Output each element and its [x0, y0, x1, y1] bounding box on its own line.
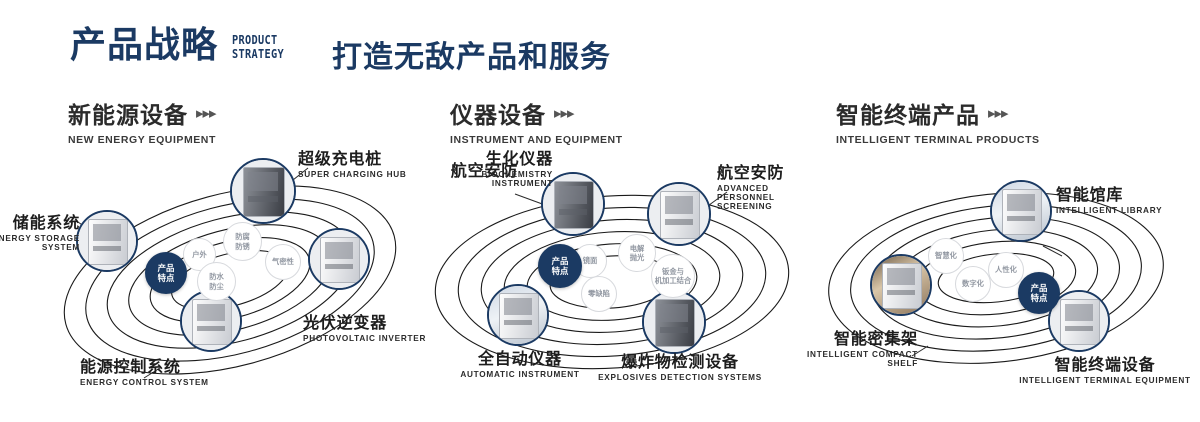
- node-super-charging-hub[interactable]: [230, 158, 296, 224]
- automatic-instrument-image: [489, 286, 547, 344]
- node-energy-storage-system[interactable]: [76, 210, 138, 272]
- energy-storage-system-image: [78, 212, 136, 270]
- group-heading-intelligent-terminal: 智能终端产品▸▸▸ INTELLIGENT TERMINAL PRODUCTS: [836, 96, 1040, 146]
- label-en: INTELLIGENT COMPACT SHELF: [790, 350, 918, 368]
- label-cn: 智能终端设备: [1015, 356, 1195, 374]
- diagram-instrument: 航空安防 生化仪器 BIOCHEMISTRY INSTRUMENT 航空安防 A…: [415, 150, 810, 400]
- node-explosives-detection-systems[interactable]: [642, 290, 706, 354]
- feature-bubble-airtight: 气密性: [265, 244, 301, 280]
- label-biochemistry-instrument: 生化仪器 BIOCHEMISTRY INSTRUMENT: [425, 150, 553, 188]
- group-title-en: INTELLIGENT TERMINAL PRODUCTS: [836, 134, 1040, 146]
- photovoltaic-inverter-image: [310, 230, 368, 288]
- label-intelligent-library: 智能馆库 INTELLIGENT LIBRARY: [1056, 186, 1191, 215]
- core-bubble-product-features: 产品 特点: [145, 252, 187, 294]
- label-cn: 智能馆库: [1056, 186, 1191, 204]
- page-tagline: 打造无敌产品和服务: [332, 32, 611, 76]
- chevron-right-icon: ▸▸▸: [554, 104, 574, 122]
- label-en: ENERGY STORAGE SYSTEM: [0, 234, 80, 252]
- page-title-en: PRODUCT STRATEGY: [232, 33, 284, 64]
- label-en: INTELLIGENT LIBRARY: [1056, 206, 1191, 215]
- node-intelligent-library[interactable]: [990, 180, 1052, 242]
- label-explosives-detection-systems: 爆炸物检测设备 EXPLOSIVES DETECTION SYSTEMS: [595, 353, 765, 382]
- group-title-en: INSTRUMENT AND EQUIPMENT: [450, 134, 623, 146]
- super-charging-hub-image: [232, 160, 294, 222]
- label-cn: 爆炸物检测设备: [595, 353, 765, 371]
- poster-header: 产品战略 PRODUCT STRATEGY: [70, 28, 295, 64]
- label-energy-storage-system: 储能系统 ENERGY STORAGE SYSTEM: [0, 214, 80, 252]
- node-photovoltaic-inverter[interactable]: [308, 228, 370, 290]
- feature-bubble-electropolish: 电解 抛光: [618, 234, 656, 272]
- label-en: INTELLIGENT TERMINAL EQUIPMENT: [1015, 376, 1195, 385]
- label-en: EXPLOSIVES DETECTION SYSTEMS: [595, 373, 765, 382]
- energy-control-system-image: [182, 292, 240, 350]
- label-cn: 全自动仪器: [440, 350, 600, 368]
- group-title-cn: 新能源设备: [68, 96, 188, 130]
- label-intelligent-terminal-equipment: 智能终端设备 INTELLIGENT TERMINAL EQUIPMENT: [1015, 356, 1195, 385]
- node-automatic-instrument[interactable]: [487, 284, 549, 346]
- intelligent-library-image: [992, 182, 1050, 240]
- group-heading-instrument: 仪器设备▸▸▸ INSTRUMENT AND EQUIPMENT: [450, 96, 623, 146]
- node-advanced-personnel-screening[interactable]: [647, 182, 711, 246]
- group-title-cn: 智能终端产品: [836, 96, 980, 130]
- group-heading-new-energy: 新能源设备▸▸▸ NEW ENERGY EQUIPMENT: [68, 96, 216, 146]
- label-en: ENERGY CONTROL SYSTEM: [80, 378, 240, 387]
- feature-bubble-humanized: 人性化: [988, 252, 1024, 288]
- core-bubble-product-features: 产品 特点: [538, 244, 582, 288]
- feature-bubble-zero-defect: 零缺陷: [581, 276, 617, 312]
- poster-canvas: 产品战略 PRODUCT STRATEGY 打造无敌产品和服务 新能源设备▸▸▸…: [0, 0, 1200, 422]
- core-bubble-product-features: 产品 特点: [1018, 272, 1060, 314]
- label-cn: 智能密集架: [790, 330, 918, 348]
- label-cn: 生化仪器: [425, 150, 553, 168]
- label-intelligent-compact-shelf: 智能密集架 INTELLIGENT COMPACT SHELF: [790, 330, 918, 368]
- advanced-personnel-screening-image: [649, 184, 709, 244]
- chevron-right-icon: ▸▸▸: [196, 104, 216, 122]
- chevron-right-icon: ▸▸▸: [988, 104, 1008, 122]
- diagram-intelligent-terminal: 智能馆库 INTELLIGENT LIBRARY 智能密集架 INTELLIGE…: [800, 150, 1200, 400]
- label-en: AUTOMATIC INSTRUMENT: [440, 370, 600, 379]
- feature-bubble-anticorrosion: 防腐 防锈: [223, 222, 262, 261]
- page-title: 产品战略: [70, 28, 218, 64]
- diagram-new-energy: 储能系统 ENERGY STORAGE SYSTEM 超级充电桩 SUPER C…: [40, 150, 420, 400]
- feature-bubble-digital: 数字化: [955, 266, 991, 302]
- label-cn: 储能系统: [0, 214, 80, 232]
- node-intelligent-compact-shelf[interactable]: [870, 254, 932, 316]
- feature-bubble-waterproof: 防水 防尘: [197, 262, 236, 301]
- label-cn: 能源控制系统: [80, 358, 240, 376]
- explosives-detection-systems-image: [644, 292, 704, 352]
- label-automatic-instrument: 全自动仪器 AUTOMATIC INSTRUMENT: [440, 350, 600, 379]
- label-energy-control-system: 能源控制系统 ENERGY CONTROL SYSTEM: [80, 358, 240, 387]
- group-title-en: NEW ENERGY EQUIPMENT: [68, 134, 216, 146]
- group-title-cn: 仪器设备: [450, 96, 546, 130]
- feature-bubble-sheetmetal-machining: 钣金与 机加工结合: [651, 254, 695, 298]
- label-en: BIOCHEMISTRY INSTRUMENT: [425, 170, 553, 188]
- intelligent-terminal-equipment-image: [1050, 292, 1108, 350]
- feature-bubble-smart: 智慧化: [928, 238, 964, 274]
- intelligent-compact-shelf-image: [872, 256, 930, 314]
